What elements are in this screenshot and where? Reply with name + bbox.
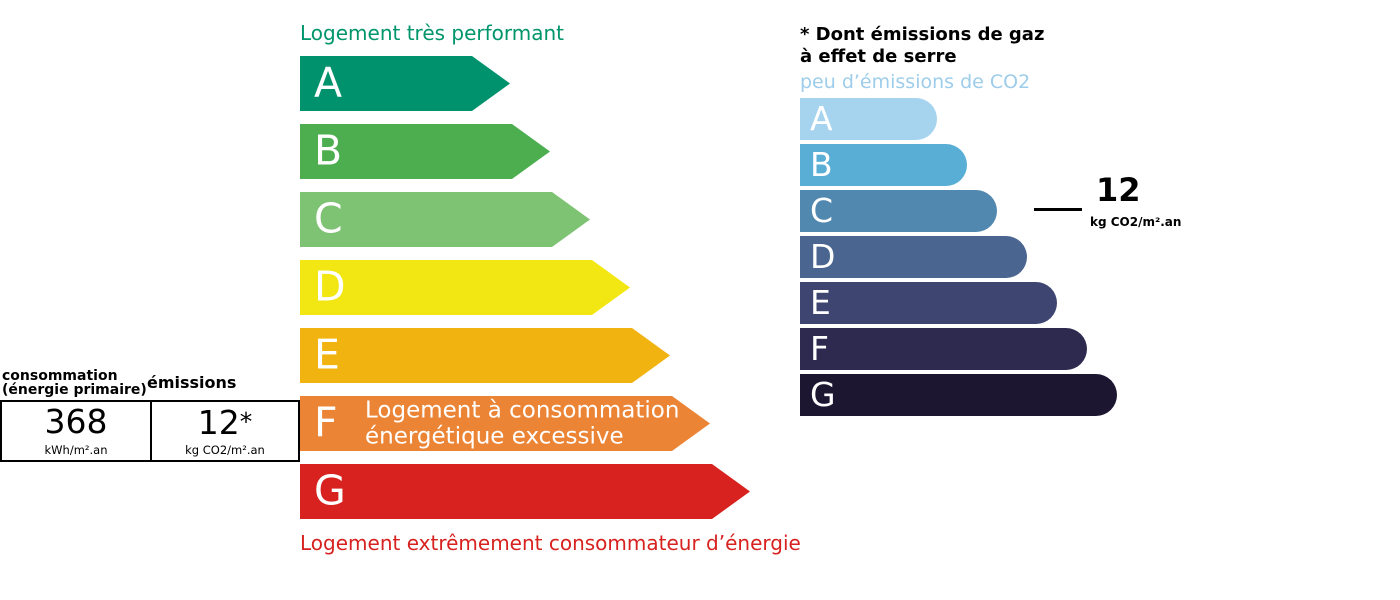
consumption-value: 368 — [2, 402, 150, 442]
emission-footnote-asterisk: * — [240, 407, 253, 436]
energy-bar-c — [300, 192, 590, 247]
energy-scale: ABCDEFLogement à consommation énergétiqu… — [300, 56, 770, 531]
energy-letter-g: G — [314, 470, 346, 511]
energy-selected-label: Logement à consommation énergétique exce… — [365, 397, 679, 450]
emission-cell: 12* kg CO2/m².an — [150, 402, 298, 460]
co2-row-e[interactable]: E — [800, 282, 1057, 324]
co2-row-b[interactable]: B — [800, 144, 967, 186]
consumption-cell: 368 kWh/m².an — [2, 402, 150, 460]
co2-row-c[interactable]: C — [800, 190, 997, 232]
co2-row-g[interactable]: G — [800, 374, 1117, 416]
energy-letter-e: E — [314, 334, 340, 375]
energy-row-c[interactable]: C — [300, 192, 590, 247]
co2-footnote-text: * Dont émissions de gaz à effet de serre — [800, 24, 1044, 68]
energy-row-f[interactable]: FLogement à consommation énergétique exc… — [300, 396, 710, 451]
energy-row-b[interactable]: B — [300, 124, 550, 179]
co2-letter-d: D — [810, 240, 835, 273]
energy-caption-top: Logement très performant — [300, 21, 564, 45]
energy-letter-d: D — [314, 266, 346, 307]
co2-letter-f: F — [810, 332, 829, 365]
energy-letter-a: A — [314, 62, 342, 103]
energy-caption-bottom: Logement extrêmement consommateur d’éner… — [300, 531, 801, 555]
co2-pointer-unit: kg CO2/m².an — [1090, 215, 1181, 229]
co2-row-f[interactable]: F — [800, 328, 1087, 370]
co2-row-d[interactable]: D — [800, 236, 1027, 278]
emission-value-wrap: 12* — [152, 402, 298, 443]
energy-letter-b: B — [314, 130, 342, 171]
co2-letter-a: A — [810, 102, 833, 135]
co2-letter-c: C — [810, 194, 833, 227]
co2-letter-g: G — [810, 378, 836, 411]
energy-letter-f: F — [314, 402, 338, 443]
energy-letter-c: C — [314, 198, 343, 239]
energy-row-g[interactable]: G — [300, 464, 750, 519]
value-box: 368 kWh/m².an 12* kg CO2/m².an — [0, 400, 300, 462]
co2-caption-top: peu d’émissions de CO2 — [800, 71, 1030, 93]
energy-bar-e — [300, 328, 670, 383]
energy-row-a[interactable]: A — [300, 56, 510, 111]
emission-unit: kg CO2/m².an — [152, 443, 298, 457]
consumption-header-label: consommation (énergie primaire) — [2, 369, 147, 397]
co2-scale: ABCDEFG — [800, 98, 1130, 418]
energy-row-d[interactable]: D — [300, 260, 630, 315]
energy-row-e[interactable]: E — [300, 328, 670, 383]
consumption-unit: kWh/m².an — [2, 443, 150, 457]
co2-letter-e: E — [810, 286, 831, 319]
co2-pointer-value: 12 — [1096, 174, 1141, 206]
emission-value: 12 — [198, 403, 240, 442]
energy-bar-g — [300, 464, 750, 519]
co2-letter-b: B — [810, 148, 833, 181]
dpe-diagram: Logement très performant ABCDEFLogement … — [0, 0, 1400, 600]
co2-pointer-line — [1034, 208, 1082, 211]
energy-bar-d — [300, 260, 630, 315]
emission-header-label: émissions — [147, 376, 236, 390]
co2-row-a[interactable]: A — [800, 98, 937, 140]
